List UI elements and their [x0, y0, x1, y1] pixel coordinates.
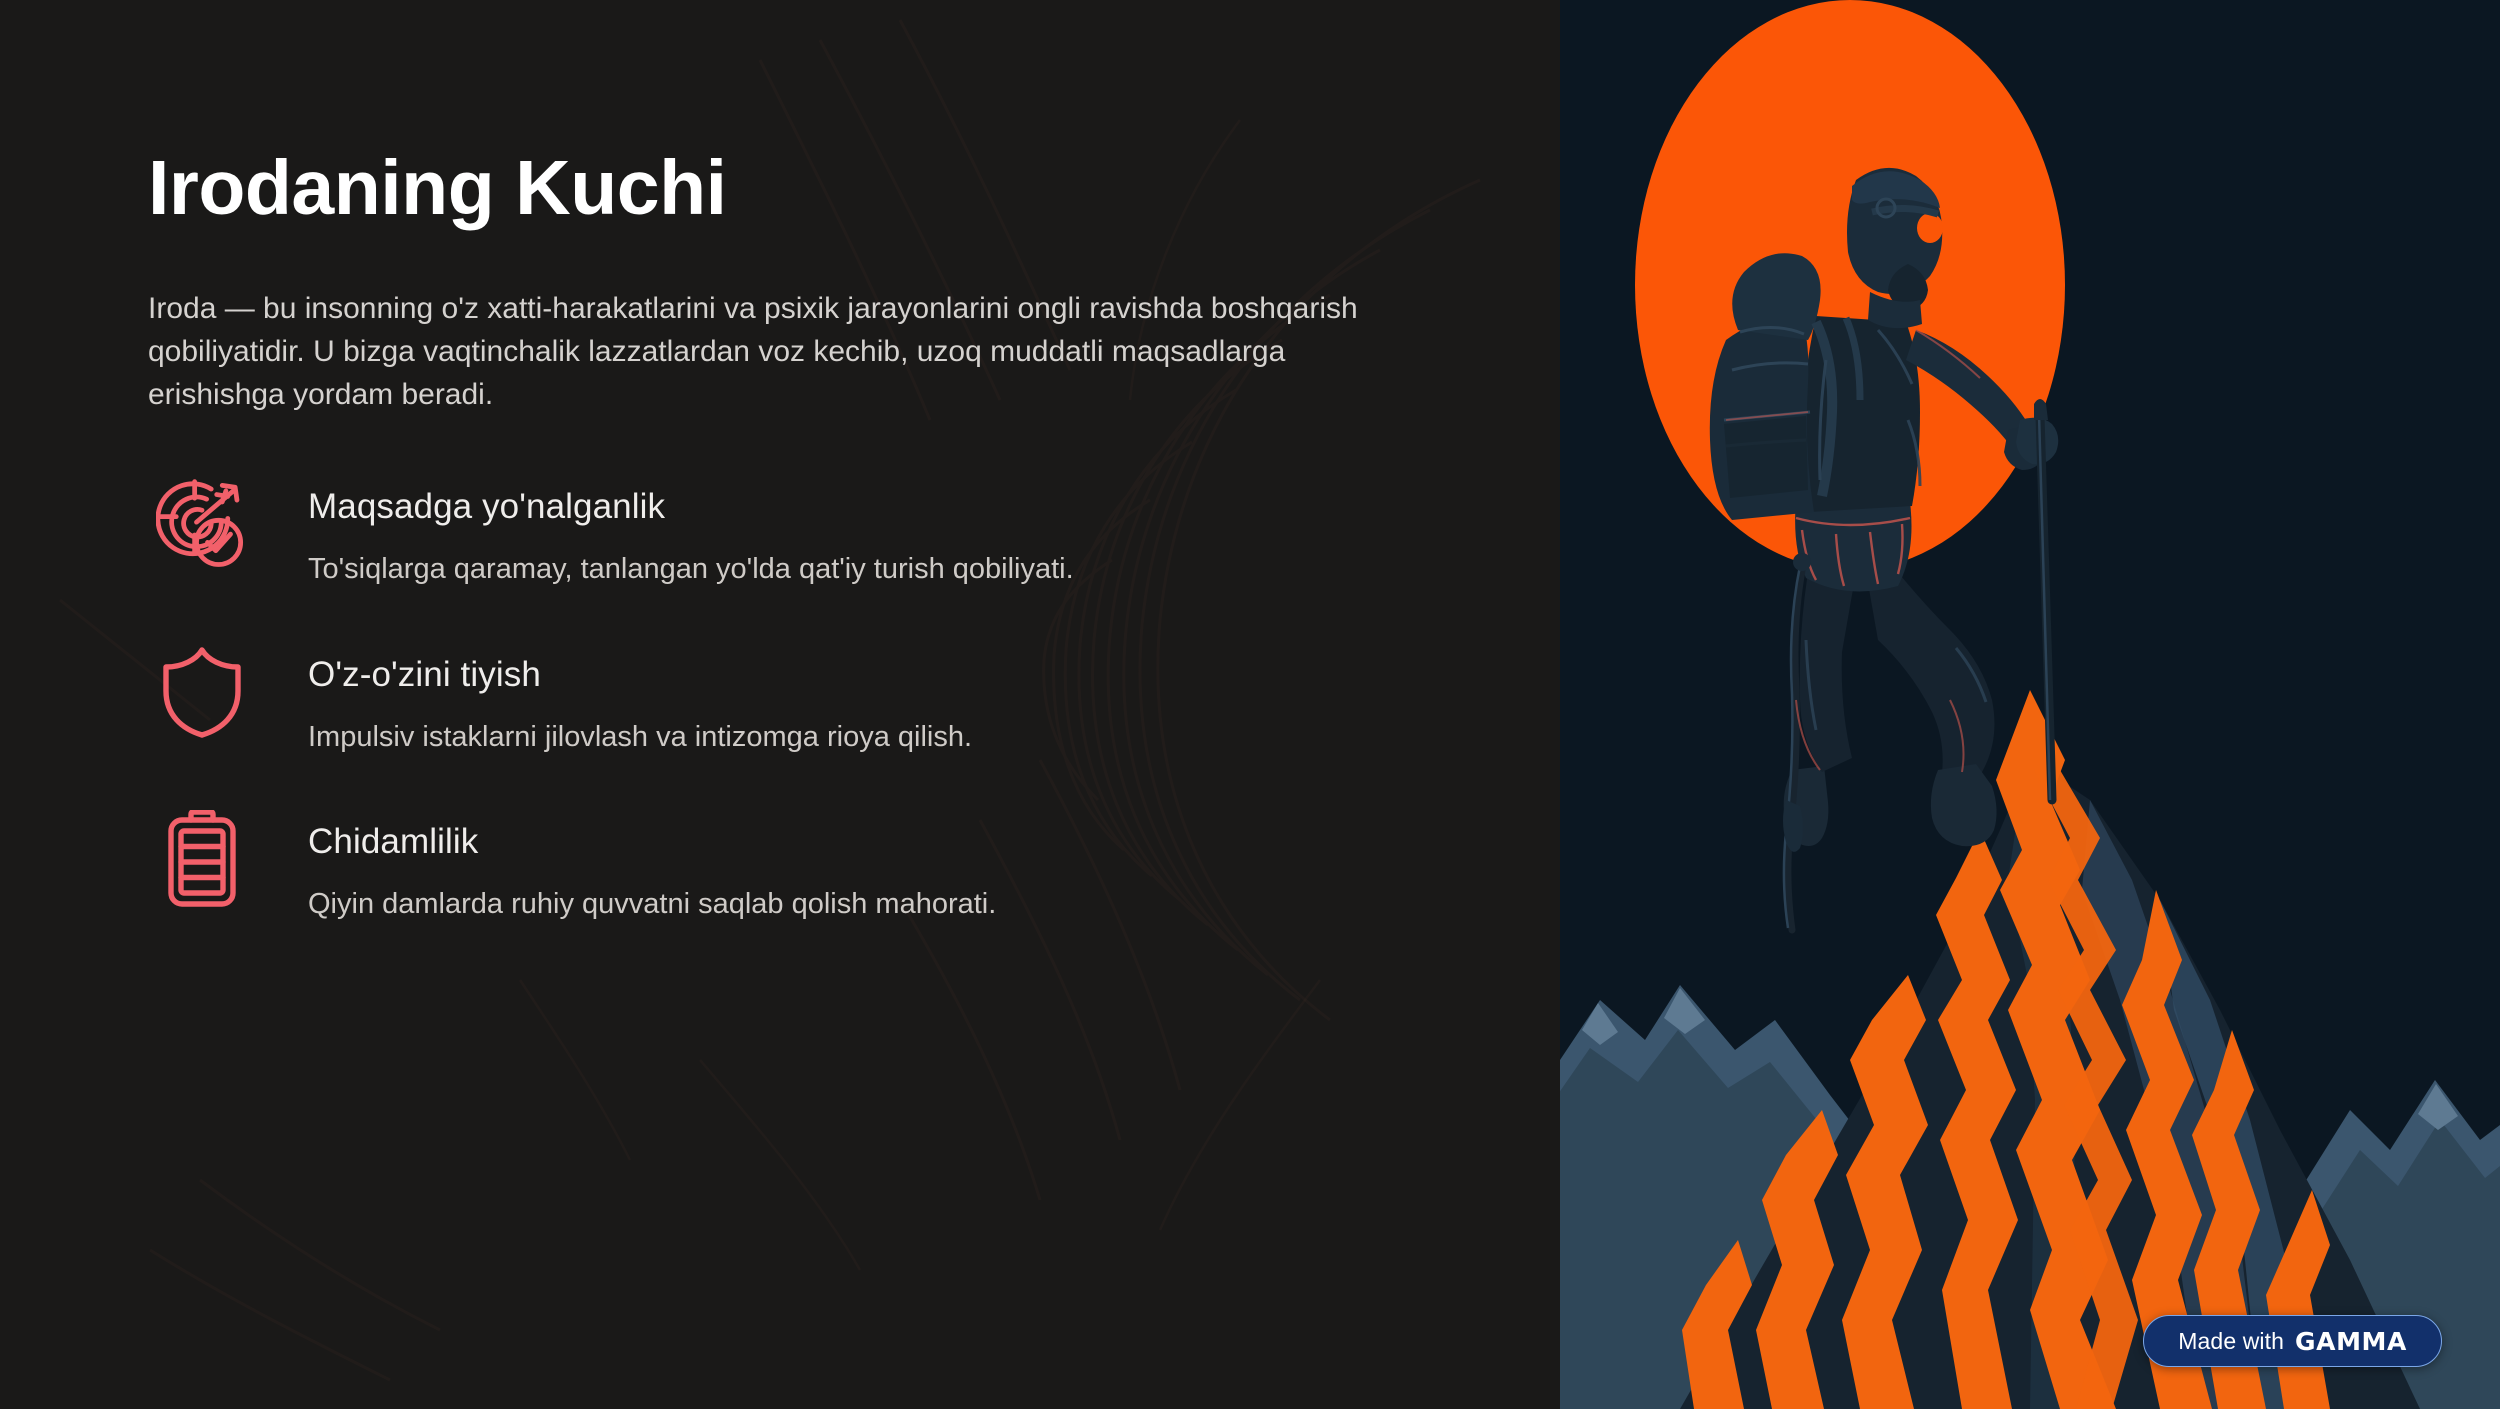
made-with-gamma-badge[interactable]: Made with GAMMA: [2143, 1315, 2442, 1367]
slide-root: Irodaning Kuchi Iroda — bu insonning o'z…: [0, 0, 2500, 1409]
target-arrow-check-icon: [148, 470, 256, 578]
feature-text-block: Maqsadga yo'nalganlik To'siqlarga qarama…: [256, 468, 1074, 589]
feature-description: To'siqlarga qaramay, tanlangan yo'lda qa…: [308, 550, 1074, 589]
gamma-brand-logo: GAMMA: [2295, 1327, 2407, 1356]
feature-item-self-restraint: O'z-o'zini tiyish Impulsiv istaklarni ji…: [148, 636, 1560, 757]
feature-text-block: Chidamlilik Qiyin damlarda ruhiy quvvatn…: [256, 803, 996, 924]
left-text-column: Irodaning Kuchi Iroda — bu insonning o'z…: [0, 0, 1560, 924]
feature-description: Qiyin damlarda ruhiy quvvatni saqlab qol…: [308, 885, 996, 924]
feature-item-endurance: Chidamlilik Qiyin damlarda ruhiy quvvatn…: [148, 803, 1560, 924]
feature-list: Maqsadga yo'nalganlik To'siqlarga qarama…: [148, 468, 1560, 923]
badge-made-with-label: Made with: [2178, 1328, 2284, 1355]
feature-title: O'z-o'zini tiyish: [308, 654, 972, 696]
feature-title: Maqsadga yo'nalganlik: [308, 486, 1074, 528]
mountaineer-on-peak-with-sun-illustration: [1560, 0, 2500, 1409]
intro-paragraph: Iroda — bu insonning o'z xatti-harakatla…: [148, 287, 1423, 417]
feature-text-block: O'z-o'zini tiyish Impulsiv istaklarni ji…: [256, 636, 972, 757]
shield-icon: [148, 638, 256, 746]
feature-description: Impulsiv istaklarni jilovlash va intizom…: [308, 718, 972, 757]
battery-icon: [148, 805, 256, 913]
page-title: Irodaning Kuchi: [148, 148, 1560, 229]
feature-item-goal-orientation: Maqsadga yo'nalganlik To'siqlarga qarama…: [148, 468, 1560, 589]
left-content-panel: Irodaning Kuchi Iroda — bu insonning o'z…: [0, 0, 1560, 1409]
illustration-panel: Made with GAMMA: [1560, 0, 2500, 1409]
feature-title: Chidamlilik: [308, 821, 996, 863]
